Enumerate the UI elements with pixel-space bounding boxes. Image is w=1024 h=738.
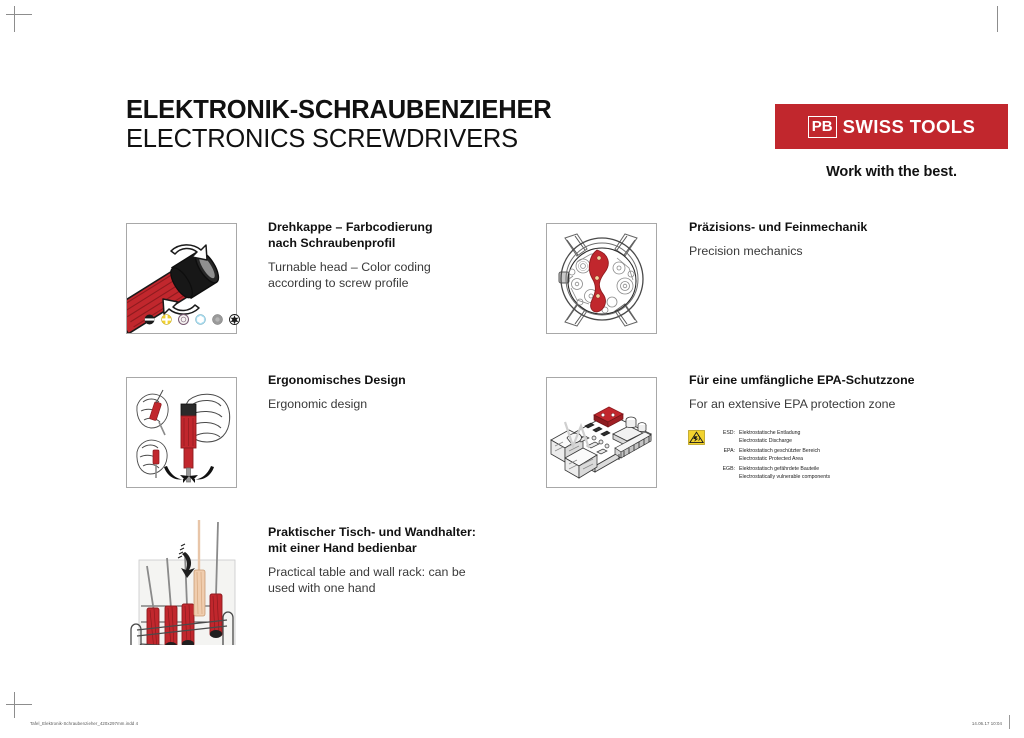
feature-text-epa-zone: Für eine umfängliche EPA-Schutzzone For … xyxy=(689,373,959,413)
esd-warning-triangle-icon xyxy=(688,430,705,445)
feature-image-table-wall-rack xyxy=(123,510,240,645)
circuit-board-illustration xyxy=(547,378,656,487)
esd-legend-de: Elektrostatisch gefährdete Bauteile xyxy=(739,466,830,474)
esd-legend: ESD: Elektrostatische Entladung Electros… xyxy=(688,430,830,484)
footer-file-info: Tafel_Elektronik-Schraubenzieher_420x297… xyxy=(30,721,138,726)
screw-profile-swatch-row xyxy=(144,314,240,325)
hex-profile-swatch xyxy=(195,314,206,325)
feature-subheading: For an extensive EPA protection zone xyxy=(689,397,959,413)
phillips-profile-swatch xyxy=(161,314,172,325)
document-page: ELEKTRONIK-SCHRAUBENZIEHER ELECTRONICS S… xyxy=(0,0,1024,738)
crop-mark-bottom-left-v xyxy=(14,692,15,718)
feature-image-ergonomic-design xyxy=(126,377,237,488)
pozidriv-profile-swatch xyxy=(178,314,189,325)
feature-subheading: Ergonomic design xyxy=(268,397,498,413)
hands-gripping-screwdriver-illustration xyxy=(127,378,236,487)
esd-legend-de: Elektrostatische Entladung xyxy=(739,430,800,438)
brand-tagline: Work with the best. xyxy=(775,164,1008,180)
crop-mark-bottom-left-h xyxy=(6,704,32,705)
esd-legend-values: Elektrostatische Entladung Electrostatic… xyxy=(739,430,800,446)
esd-legend-values: Elektrostatisch geschützter Bereich Elec… xyxy=(739,448,820,464)
pb-monogram-icon: PB xyxy=(808,116,837,138)
feature-subheading: Precision mechanics xyxy=(689,244,949,260)
esd-legend-rows: ESD: Elektrostatische Entladung Electros… xyxy=(713,430,830,484)
screwdriver-rack-illustration xyxy=(123,510,240,645)
esd-legend-key: ESD: xyxy=(713,430,739,446)
pb-swiss-tools-logo: PB SWISS TOOLS xyxy=(775,104,1008,149)
esd-legend-en: Electrostatically vulnerable components xyxy=(739,474,830,482)
esd-legend-values: Elektrostatisch gefährdete Bauteile Elec… xyxy=(739,466,830,482)
esd-legend-key: EPA: xyxy=(713,448,739,464)
feature-heading: Praktischer Tisch- und Wandhalter: mit e… xyxy=(268,525,508,557)
feature-text-precision-mechanics: Präzisions- und Feinmechanik Precision m… xyxy=(689,220,949,260)
esd-legend-row: EPA: Elektrostatisch geschützter Bereich… xyxy=(713,448,830,464)
esd-legend-key: EGB: xyxy=(713,466,739,482)
feature-text-turnable-head: Drehkappe – Farbcodierung nach Schrauben… xyxy=(268,220,498,292)
esd-legend-row: EGB: Elektrostatisch gefährdete Bauteile… xyxy=(713,466,830,482)
crop-mark-top-left-v xyxy=(14,6,15,32)
feature-heading: Für eine umfängliche EPA-Schutzzone xyxy=(689,373,959,389)
slotted-profile-swatch xyxy=(144,314,155,325)
feature-text-table-wall-rack: Praktischer Tisch- und Wandhalter: mit e… xyxy=(268,525,508,597)
feature-subheading: Practical table and wall rack: can be us… xyxy=(268,565,508,597)
esd-legend-row: ESD: Elektrostatische Entladung Electros… xyxy=(713,430,830,446)
feature-text-ergonomic-design: Ergonomisches Design Ergonomic design xyxy=(268,373,498,413)
crop-mark-top-right-v xyxy=(997,6,998,32)
feature-image-epa-zone xyxy=(546,377,657,488)
brand-block: PB SWISS TOOLS Work with the best. xyxy=(775,104,1008,180)
watch-movement-illustration xyxy=(547,224,656,333)
footer-timestamp: 14.06.17 10:04 xyxy=(972,721,1002,726)
esd-legend-en: Electrostatic Protected Area xyxy=(739,456,820,464)
crop-mark-top-left-h xyxy=(6,14,32,15)
torx-plus-profile-swatch xyxy=(212,314,223,325)
feature-heading: Ergonomisches Design xyxy=(268,373,498,389)
feature-subheading: Turnable head – Color coding according t… xyxy=(268,260,498,292)
torx-profile-swatch xyxy=(229,314,240,325)
feature-heading: Drehkappe – Farbcodierung nach Schrauben… xyxy=(268,220,498,252)
feature-heading: Präzisions- und Feinmechanik xyxy=(689,220,949,236)
footer-divider xyxy=(1009,715,1010,729)
logo-inner: PB SWISS TOOLS xyxy=(808,116,975,138)
feature-image-precision-mechanics xyxy=(546,223,657,334)
logo-wordmark: SWISS TOOLS xyxy=(843,116,976,138)
esd-legend-de: Elektrostatisch geschützter Bereich xyxy=(739,448,820,456)
esd-legend-en: Electrostatic Discharge xyxy=(739,438,800,446)
